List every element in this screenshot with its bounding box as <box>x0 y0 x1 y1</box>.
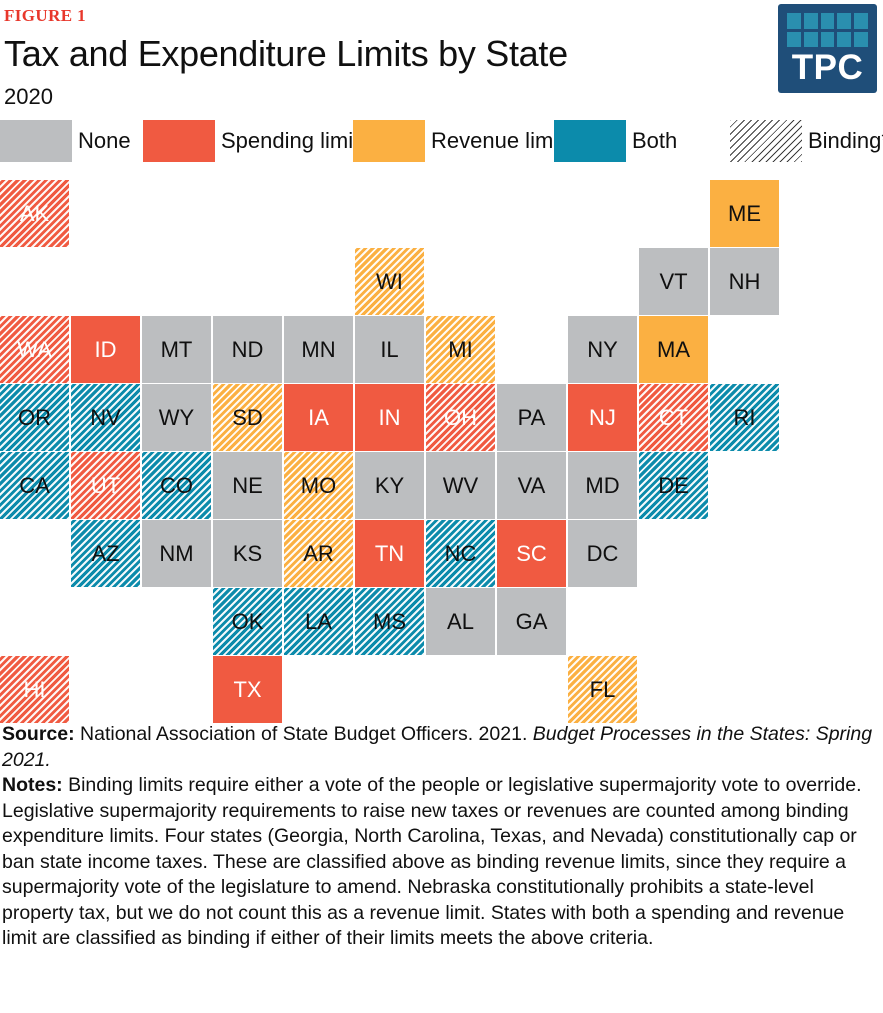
state-cell-mo[interactable]: MO <box>284 452 353 519</box>
state-cell-sc[interactable]: SC <box>497 520 566 587</box>
state-label-ne: NE <box>213 474 282 498</box>
state-label-ak: AK <box>0 202 69 226</box>
state-label-il: IL <box>355 338 424 362</box>
state-grid-map: AKMEWIVTNHWAIDMTNDMNILMINYMAORNVWYSDIAIN… <box>0 180 883 660</box>
state-label-sc: SC <box>497 542 566 566</box>
notes-label: Notes: <box>2 774 63 796</box>
state-cell-la[interactable]: LA <box>284 588 353 655</box>
state-cell-id[interactable]: ID <box>71 316 140 383</box>
state-cell-or[interactable]: OR <box>0 384 69 451</box>
tpc-logo-cell <box>854 13 868 29</box>
state-label-mo: MO <box>284 474 353 498</box>
legend-swatch-both <box>554 120 626 162</box>
notes-line: Notes: Binding limits require either a v… <box>2 773 880 952</box>
state-label-co: CO <box>142 474 211 498</box>
state-cell-wy[interactable]: WY <box>142 384 211 451</box>
state-cell-nm[interactable]: NM <box>142 520 211 587</box>
state-label-mt: MT <box>142 338 211 362</box>
state-cell-al[interactable]: AL <box>426 588 495 655</box>
figure-page: FIGURE 1 Tax and Expenditure Limits by S… <box>0 0 883 1013</box>
state-cell-ms[interactable]: MS <box>355 588 424 655</box>
state-label-mi: MI <box>426 338 495 362</box>
tpc-logo-grid <box>787 13 868 47</box>
state-label-ut: UT <box>71 474 140 498</box>
legend-swatch-revenue <box>353 120 425 162</box>
state-label-wa: WA <box>0 338 69 362</box>
state-cell-de[interactable]: DE <box>639 452 708 519</box>
state-cell-ar[interactable]: AR <box>284 520 353 587</box>
state-label-nd: ND <box>213 338 282 362</box>
state-cell-mi[interactable]: MI <box>426 316 495 383</box>
state-cell-vt[interactable]: VT <box>639 248 708 315</box>
state-cell-mt[interactable]: MT <box>142 316 211 383</box>
state-cell-fl[interactable]: FL <box>568 656 637 723</box>
state-label-wi: WI <box>355 270 424 294</box>
state-label-nm: NM <box>142 542 211 566</box>
state-cell-ky[interactable]: KY <box>355 452 424 519</box>
tpc-logo-cell <box>821 13 835 29</box>
state-cell-ny[interactable]: NY <box>568 316 637 383</box>
tpc-logo-cell <box>804 32 818 48</box>
state-cell-nd[interactable]: ND <box>213 316 282 383</box>
state-label-de: DE <box>639 474 708 498</box>
state-cell-wa[interactable]: WA <box>0 316 69 383</box>
state-label-nc: NC <box>426 542 495 566</box>
legend-label-both: Both <box>632 120 677 162</box>
state-cell-in[interactable]: IN <box>355 384 424 451</box>
state-cell-md[interactable]: MD <box>568 452 637 519</box>
state-label-va: VA <box>497 474 566 498</box>
state-label-in: IN <box>355 406 424 430</box>
state-label-nv: NV <box>71 406 140 430</box>
legend-label-binding: Binding* <box>808 120 883 162</box>
state-cell-sd[interactable]: SD <box>213 384 282 451</box>
state-cell-ks[interactable]: KS <box>213 520 282 587</box>
legend-label-revenue: Revenue limit <box>431 120 564 162</box>
state-cell-ga[interactable]: GA <box>497 588 566 655</box>
state-label-wy: WY <box>142 406 211 430</box>
tpc-logo-cell <box>837 13 851 29</box>
state-cell-ut[interactable]: UT <box>71 452 140 519</box>
state-label-wv: WV <box>426 474 495 498</box>
tpc-logo-cell <box>837 32 851 48</box>
source-line: Source: National Association of State Bu… <box>2 722 880 773</box>
state-cell-oh[interactable]: OH <box>426 384 495 451</box>
state-cell-me[interactable]: ME <box>710 180 779 247</box>
state-label-dc: DC <box>568 542 637 566</box>
state-label-mn: MN <box>284 338 353 362</box>
tpc-logo-cell <box>787 32 801 48</box>
state-label-ar: AR <box>284 542 353 566</box>
source-label: Source: <box>2 723 75 745</box>
tpc-logo-cell <box>821 32 835 48</box>
state-label-ok: OK <box>213 610 282 634</box>
page-title: Tax and Expenditure Limits by State <box>4 33 568 75</box>
state-cell-tx[interactable]: TX <box>213 656 282 723</box>
state-label-ia: IA <box>284 406 353 430</box>
state-cell-wv[interactable]: WV <box>426 452 495 519</box>
state-label-hi: HI <box>0 678 69 702</box>
state-cell-nh[interactable]: NH <box>710 248 779 315</box>
figure-label: FIGURE 1 <box>4 6 86 26</box>
state-label-ca: CA <box>0 474 69 498</box>
footnotes: Source: National Association of State Bu… <box>2 722 880 952</box>
state-cell-dc[interactable]: DC <box>568 520 637 587</box>
legend-label-none: None <box>78 120 131 162</box>
state-cell-az[interactable]: AZ <box>71 520 140 587</box>
state-label-vt: VT <box>639 270 708 294</box>
state-label-tx: TX <box>213 678 282 702</box>
state-cell-tn[interactable]: TN <box>355 520 424 587</box>
tpc-logo-cell <box>854 32 868 48</box>
state-label-ms: MS <box>355 610 424 634</box>
tpc-logo-cell <box>804 13 818 29</box>
legend-swatch-none <box>0 120 72 162</box>
state-label-md: MD <box>568 474 637 498</box>
state-label-ga: GA <box>497 610 566 634</box>
state-cell-il[interactable]: IL <box>355 316 424 383</box>
notes-text: Binding limits require either a vote of … <box>2 774 862 949</box>
state-cell-ak[interactable]: AK <box>0 180 69 247</box>
tpc-logo: TPC <box>778 4 877 93</box>
tpc-logo-text: TPC <box>778 48 877 88</box>
state-label-tn: TN <box>355 542 424 566</box>
state-cell-ia[interactable]: IA <box>284 384 353 451</box>
state-label-nj: NJ <box>568 406 637 430</box>
state-label-ct: CT <box>639 406 708 430</box>
state-label-oh: OH <box>426 406 495 430</box>
state-cell-ca[interactable]: CA <box>0 452 69 519</box>
tpc-logo-cell <box>787 13 801 29</box>
state-cell-pa[interactable]: PA <box>497 384 566 451</box>
figure-subtitle-year: 2020 <box>4 84 53 110</box>
state-cell-ne[interactable]: NE <box>213 452 282 519</box>
state-cell-ri[interactable]: RI <box>710 384 779 451</box>
state-cell-wi[interactable]: WI <box>355 248 424 315</box>
state-cell-nc[interactable]: NC <box>426 520 495 587</box>
state-cell-mn[interactable]: MN <box>284 316 353 383</box>
state-label-nh: NH <box>710 270 779 294</box>
state-label-fl: FL <box>568 678 637 702</box>
legend-swatch-spend <box>143 120 215 162</box>
state-label-pa: PA <box>497 406 566 430</box>
state-label-ri: RI <box>710 406 779 430</box>
state-cell-va[interactable]: VA <box>497 452 566 519</box>
state-cell-hi[interactable]: HI <box>0 656 69 723</box>
state-label-ks: KS <box>213 542 282 566</box>
state-cell-nj[interactable]: NJ <box>568 384 637 451</box>
state-label-ky: KY <box>355 474 424 498</box>
state-label-la: LA <box>284 610 353 634</box>
state-label-ny: NY <box>568 338 637 362</box>
state-cell-ma[interactable]: MA <box>639 316 708 383</box>
state-label-id: ID <box>71 338 140 362</box>
state-cell-nv[interactable]: NV <box>71 384 140 451</box>
state-cell-ct[interactable]: CT <box>639 384 708 451</box>
legend-label-spend: Spending limit <box>221 120 359 162</box>
state-label-me: ME <box>710 202 779 226</box>
legend-swatch-binding <box>730 120 802 162</box>
state-label-az: AZ <box>71 542 140 566</box>
state-cell-co[interactable]: CO <box>142 452 211 519</box>
state-label-sd: SD <box>213 406 282 430</box>
source-text: National Association of State Budget Off… <box>75 723 533 745</box>
state-label-or: OR <box>0 406 69 430</box>
state-label-ma: MA <box>639 338 708 362</box>
state-cell-ok[interactable]: OK <box>213 588 282 655</box>
state-label-al: AL <box>426 610 495 634</box>
